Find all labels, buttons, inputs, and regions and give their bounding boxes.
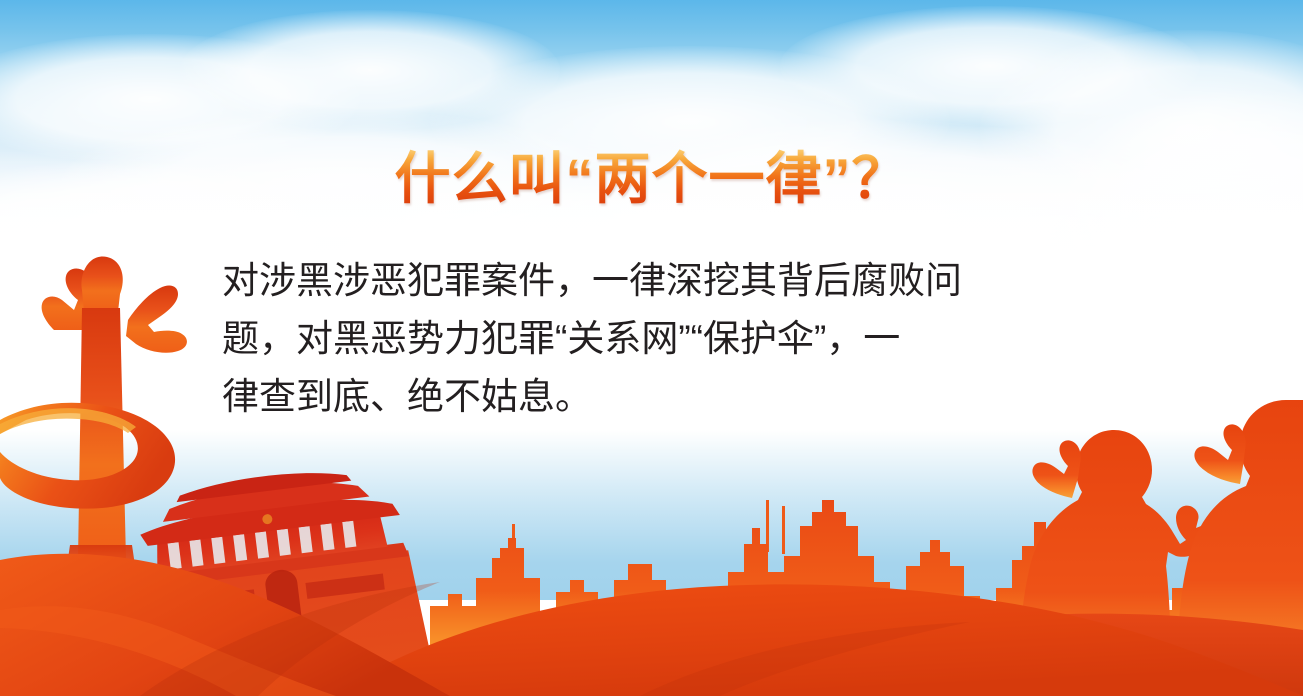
body-line-1: 对涉黑涉恶犯罪案件，一律深挖其背后腐败问 bbox=[222, 252, 1108, 310]
body-line-3: 律查到底、绝不姑息。 bbox=[222, 368, 1108, 426]
page-title: 什么叫“两个一律”？ bbox=[0, 148, 1303, 210]
body-paragraph: 对涉黑涉恶犯罪案件，一律深挖其背后腐败问 题，对黑恶势力犯罪“关系网”“保护伞”… bbox=[222, 252, 1108, 426]
body-line-2: 题，对黑恶势力犯罪“关系网”“保护伞”，一 bbox=[222, 310, 1108, 368]
poster-canvas: 什么叫“两个一律”？ 对涉黑涉恶犯罪案件，一律深挖其背后腐败问 题，对黑恶势力犯… bbox=[0, 0, 1303, 696]
